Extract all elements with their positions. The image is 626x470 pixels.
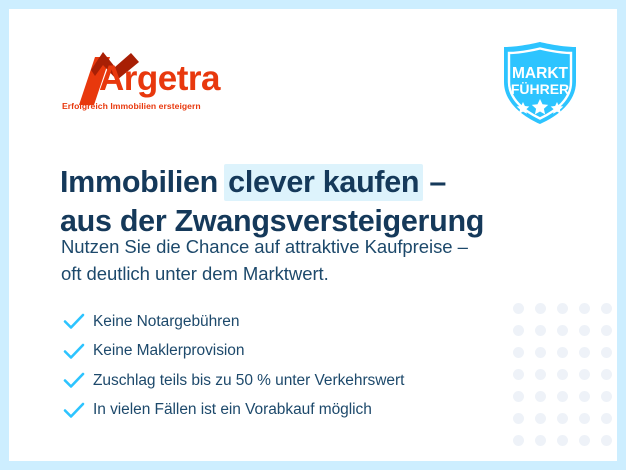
grid-dot (513, 303, 524, 314)
list-item: Keine Notargebühren (63, 307, 513, 337)
subtitle-line2: oft deutlich unter dem Marktwert. (61, 261, 561, 288)
grid-dot (557, 391, 568, 402)
subtitle-line1: Nutzen Sie die Chance auf attraktive Kau… (61, 234, 561, 261)
grid-dot (535, 413, 546, 424)
page-title: Immobilien clever kaufen – aus der Zwang… (60, 163, 560, 240)
grid-dot (579, 391, 590, 402)
headline-part1: Immobilien (60, 165, 226, 199)
dot-grid-decoration (513, 303, 617, 461)
grid-dot (535, 391, 546, 402)
grid-dot (535, 347, 546, 358)
grid-dot (557, 303, 568, 314)
list-item-label: Zuschlag teils bis zu 50 % unter Verkehr… (93, 372, 404, 390)
grid-dot (557, 413, 568, 424)
grid-dot (579, 303, 590, 314)
grid-dot (513, 435, 524, 446)
grid-dot (579, 413, 590, 424)
badge-line2: FÜHRER (511, 81, 569, 97)
list-item: Keine Maklerprovision (63, 337, 513, 367)
grid-dot (601, 369, 612, 380)
grid-dot (557, 347, 568, 358)
grid-dot (535, 369, 546, 380)
grid-dot (601, 303, 612, 314)
grid-dot (535, 303, 546, 314)
headline-highlight: clever kaufen (224, 164, 423, 201)
grid-dot (601, 347, 612, 358)
list-item-label: Keine Notargebühren (93, 313, 239, 331)
badge-line1: MARKT (512, 65, 568, 82)
list-item: Zuschlag teils bis zu 50 % unter Verkehr… (63, 366, 513, 396)
grid-dot (513, 325, 524, 336)
market-leader-badge: MARKT FÜHRER (498, 40, 582, 126)
grid-dot (557, 435, 568, 446)
list-item-label: Keine Maklerprovision (93, 342, 244, 360)
shield-badge-icon: MARKT FÜHRER (498, 40, 582, 126)
grid-dot (579, 435, 590, 446)
argetra-logo[interactable]: Argetra Erfolgreich Immobilien ersteiger… (61, 49, 221, 117)
grid-dot (513, 347, 524, 358)
page-subtitle: Nutzen Sie die Chance auf attraktive Kau… (61, 234, 561, 287)
grid-dot (579, 369, 590, 380)
grid-dot (513, 413, 524, 424)
grid-dot (535, 435, 546, 446)
logo-wordmark: Argetra (99, 61, 220, 96)
grid-dot (535, 325, 546, 336)
grid-dot (513, 391, 524, 402)
check-icon (63, 343, 93, 360)
list-item-label: In vielen Fällen ist ein Vorabkauf mögli… (93, 401, 372, 419)
check-icon (63, 372, 93, 389)
check-icon (63, 402, 93, 419)
headline-part2: – (421, 165, 446, 199)
grid-dot (557, 369, 568, 380)
grid-dot (601, 413, 612, 424)
grid-dot (513, 369, 524, 380)
promo-banner: Argetra Erfolgreich Immobilien ersteiger… (0, 0, 626, 470)
grid-dot (557, 325, 568, 336)
list-item: In vielen Fällen ist ein Vorabkauf mögli… (63, 396, 513, 426)
banner-inner-surface: Argetra Erfolgreich Immobilien ersteiger… (9, 9, 617, 461)
grid-dot (601, 435, 612, 446)
grid-dot (579, 347, 590, 358)
grid-dot (579, 325, 590, 336)
grid-dot (601, 325, 612, 336)
logo-tagline: Erfolgreich Immobilien ersteigern (62, 101, 201, 111)
grid-dot (601, 391, 612, 402)
benefit-list: Keine Notargebühren Keine Maklerprovisio… (63, 307, 513, 425)
check-icon (63, 313, 93, 330)
